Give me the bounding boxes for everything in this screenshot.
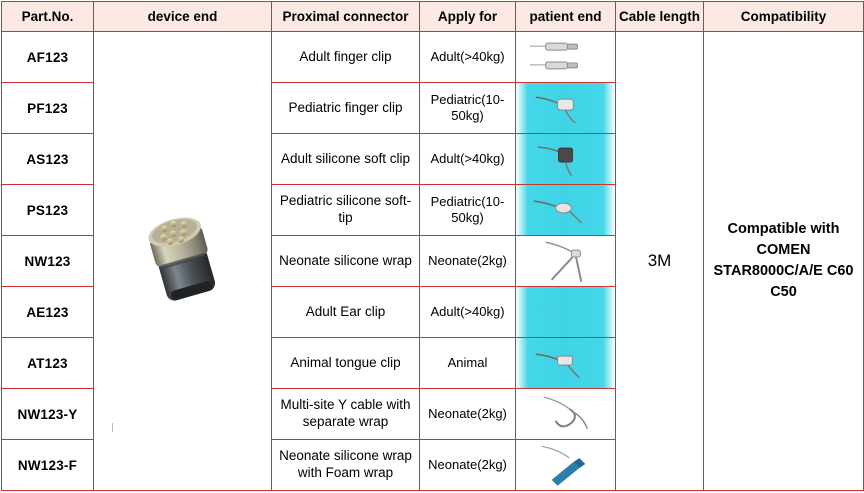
neonate-wrap-drawing xyxy=(516,236,615,286)
table-header: Part.No. device end Proximal connector A… xyxy=(2,2,864,32)
proximal-connector-cell: Multi-site Y cable with separate wrap xyxy=(272,389,420,440)
part-no-cell: AS123 xyxy=(2,134,94,185)
part-no-cell: NW123-Y xyxy=(2,389,94,440)
proximal-connector-cell: Animal tongue clip xyxy=(272,338,420,389)
apply-for-label: Neonate(2kg) xyxy=(420,455,515,475)
proximal-connector-cell: Adult silicone soft clip xyxy=(272,134,420,185)
proximal-connector-cell: Neonate silicone wrap xyxy=(272,236,420,287)
silicone-soft-clip-drawing xyxy=(516,134,615,184)
spec-table-page: Part.No. device end Proximal connector A… xyxy=(0,0,864,493)
compatibility-cell: Compatible with COMEN STAR8000C/A/E C60 … xyxy=(704,32,864,491)
apply-for-label: Animal xyxy=(420,353,515,373)
part-no-label: PS123 xyxy=(27,203,69,218)
proximal-connector-label: Neonate silicone wrap with Foam wrap xyxy=(272,446,419,484)
part-no-cell: NW123 xyxy=(2,236,94,287)
proximal-connector-cell: Pediatric silicone soft-tip xyxy=(272,185,420,236)
apply-for-label: Pediatric(10-50kg) xyxy=(420,192,515,229)
part-no-label: AT123 xyxy=(27,356,68,371)
circular-pin-connector-icon xyxy=(138,201,228,321)
apply-for-label: Neonate(2kg) xyxy=(420,404,515,424)
proximal-connector-cell: Adult finger clip xyxy=(272,32,420,83)
apply-for-cell: Neonate(2kg) xyxy=(420,440,516,491)
proximal-connector-cell: Pediatric finger clip xyxy=(272,83,420,134)
column-header-part-no: Part.No. xyxy=(2,2,94,32)
column-header-compatibility: Compatibility xyxy=(704,2,864,32)
finger-clip-sensor-icon xyxy=(516,32,615,82)
proximal-connector-cell: Neonate silicone wrap with Foam wrap xyxy=(272,440,420,491)
apply-for-cell: Animal xyxy=(420,338,516,389)
part-no-label: AE123 xyxy=(26,305,68,320)
patient-end-cell xyxy=(516,83,616,134)
apply-for-label: Adult(>40kg) xyxy=(420,47,515,67)
proximal-connector-label: Pediatric silicone soft-tip xyxy=(272,191,419,229)
column-header-proximal-connector: Proximal connector xyxy=(272,2,420,32)
column-header-patient-end: patient end xyxy=(516,2,616,32)
proximal-connector-label: Adult silicone soft clip xyxy=(272,149,419,170)
part-no-label: NW123-F xyxy=(18,458,77,473)
part-no-cell: NW123-F xyxy=(2,440,94,491)
part-no-label: NW123-Y xyxy=(18,407,78,422)
part-no-cell: PS123 xyxy=(2,185,94,236)
apply-for-cell: Adult(>40kg) xyxy=(420,32,516,83)
patient-end-cell xyxy=(516,338,616,389)
connector-wrap xyxy=(94,32,272,490)
patient-end-cell xyxy=(516,287,616,338)
part-no-cell: AE123 xyxy=(2,287,94,338)
part-no-label: PF123 xyxy=(27,101,68,116)
part-no-cell: AT123 xyxy=(2,338,94,389)
pediatric-finger-clip-icon xyxy=(516,83,615,133)
column-header-apply-for: Apply for xyxy=(420,2,516,32)
animal-tongue-clip-icon xyxy=(516,338,615,388)
apply-for-cell: Pediatric(10-50kg) xyxy=(420,83,516,134)
proximal-connector-label: Adult finger clip xyxy=(272,47,419,68)
table-row: AF123 xyxy=(2,32,864,83)
foam-wrap-drawing xyxy=(516,440,615,490)
part-no-cell: AF123 xyxy=(2,32,94,83)
proximal-connector-label: Animal tongue clip xyxy=(272,353,419,374)
proximal-connector-label: Multi-site Y cable with separate wrap xyxy=(272,395,419,433)
product-spec-table: Part.No. device end Proximal connector A… xyxy=(1,1,864,491)
table-header-row: Part.No. device end Proximal connector A… xyxy=(2,2,864,32)
apply-for-label: Adult(>40kg) xyxy=(420,149,515,169)
cable-length-cell: 3M xyxy=(616,32,704,491)
patient-end-cell xyxy=(516,440,616,491)
compatibility-label: Compatible with COMEN STAR8000C/A/E C60 … xyxy=(704,215,863,307)
apply-for-label: Neonate(2kg) xyxy=(420,251,515,271)
y-cable-wrap-drawing xyxy=(516,389,615,439)
foam-wrap-icon xyxy=(516,440,615,490)
ear-clip-drawing xyxy=(516,287,615,337)
apply-for-cell: Adult(>40kg) xyxy=(420,134,516,185)
column-header-device-end: device end xyxy=(94,2,272,32)
patient-end-cell xyxy=(516,236,616,287)
silicone-soft-clip-icon xyxy=(516,134,615,184)
proximal-connector-label: Neonate silicone wrap xyxy=(272,251,419,272)
column-header-cable-length: Cable length xyxy=(616,2,704,32)
finger-clip-sensor-drawing xyxy=(516,32,615,82)
part-no-label: NW123 xyxy=(24,254,70,269)
cable-length-label: 3M xyxy=(648,251,672,270)
pediatric-soft-tip-icon xyxy=(516,185,615,235)
part-no-cell: PF123 xyxy=(2,83,94,134)
apply-for-cell: Neonate(2kg) xyxy=(420,389,516,440)
apply-for-cell: Adult(>40kg) xyxy=(420,287,516,338)
pediatric-soft-tip-drawing xyxy=(516,185,615,235)
proximal-connector-cell: Adult Ear clip xyxy=(272,287,420,338)
patient-end-cell xyxy=(516,134,616,185)
proximal-connector-label: Pediatric finger clip xyxy=(272,98,419,119)
pediatric-finger-clip-drawing xyxy=(516,83,615,133)
part-no-label: AF123 xyxy=(27,50,69,65)
apply-for-label: Pediatric(10-50kg) xyxy=(420,90,515,127)
patient-end-cell xyxy=(516,389,616,440)
y-cable-wrap-icon xyxy=(516,389,615,439)
apply-for-cell: Neonate(2kg) xyxy=(420,236,516,287)
ear-clip-icon xyxy=(516,287,615,337)
neonate-wrap-icon xyxy=(516,236,615,286)
device-end-cell xyxy=(94,32,272,491)
patient-end-cell xyxy=(516,185,616,236)
apply-for-cell: Pediatric(10-50kg) xyxy=(420,185,516,236)
animal-tongue-clip-drawing xyxy=(516,338,615,388)
apply-for-label: Adult(>40kg) xyxy=(420,302,515,322)
proximal-connector-label: Adult Ear clip xyxy=(272,302,419,323)
patient-end-cell xyxy=(516,32,616,83)
part-no-label: AS123 xyxy=(26,152,68,167)
table-body: AF123 xyxy=(2,32,864,491)
scale-tick-icon xyxy=(112,423,113,432)
